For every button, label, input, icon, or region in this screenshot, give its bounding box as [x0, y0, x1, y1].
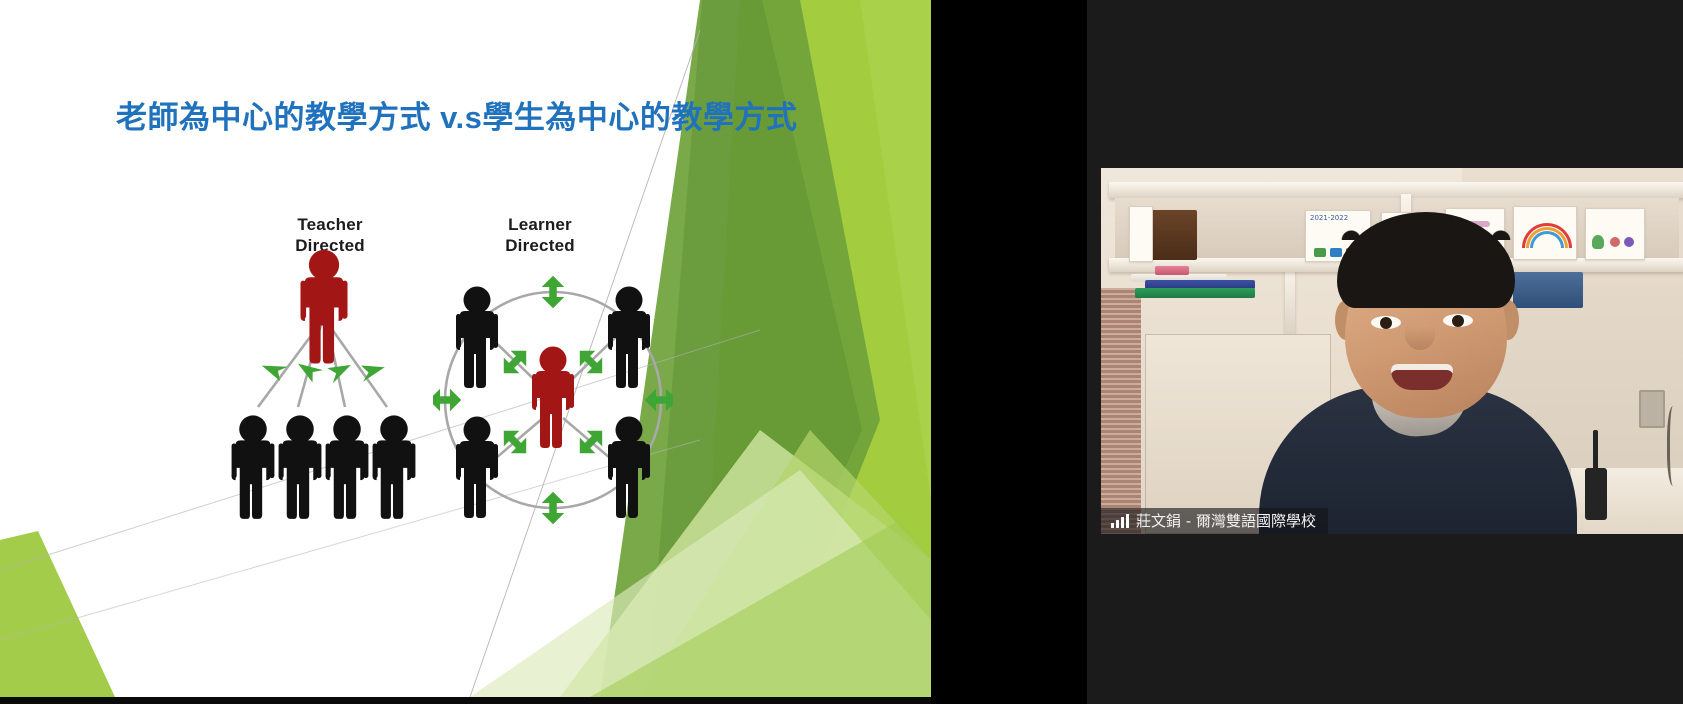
learner-directed-label-line1: Learner	[460, 215, 620, 236]
peer-figure-bottom-left	[456, 417, 498, 519]
drawing-d	[1585, 208, 1645, 260]
person-mouth	[1391, 364, 1453, 390]
student-figure-4	[373, 415, 416, 519]
learner-directed-graphic	[433, 250, 673, 560]
ring-arrow-right	[645, 389, 673, 412]
slide-bottom-letterbox	[0, 697, 931, 704]
person-hair-spikes	[1337, 206, 1515, 240]
walkie-antenna	[1593, 430, 1598, 472]
power-cable	[1667, 406, 1682, 486]
shelf-white-card	[1129, 206, 1153, 262]
learner-center-figure	[532, 347, 574, 449]
teacher-arrow-1	[259, 359, 288, 382]
letterbox-gap	[931, 0, 1087, 704]
peer-figure-bottom-right	[608, 417, 650, 519]
teaching-styles-diagram: Teacher Directed Learner Directed	[215, 205, 685, 515]
person-eye-right	[1443, 314, 1473, 327]
person-nose	[1405, 316, 1435, 350]
webcam-scene: 2021-2022	[1101, 168, 1683, 534]
student-figure-3	[326, 415, 369, 519]
shelf-folder-green	[1135, 288, 1255, 298]
teacher-directed-graphic	[215, 250, 445, 560]
screen-root: 老師為中心的教學方式 v.s學生為中心的教學方式 Teacher Directe…	[0, 0, 1683, 704]
signal-bars-icon	[1111, 514, 1129, 528]
shelf-folder-pink	[1155, 266, 1189, 275]
student-figure-2	[279, 415, 322, 519]
power-outlet	[1639, 390, 1665, 428]
peer-figure-top-right	[608, 287, 650, 389]
video-panel: 2021-2022	[1087, 0, 1683, 704]
shared-slide[interactable]: 老師為中心的教學方式 v.s學生為中心的教學方式 Teacher Directe…	[0, 0, 931, 697]
spoke-arrow-se	[572, 423, 610, 461]
student-figure-1	[232, 415, 275, 519]
participant-person	[1253, 196, 1583, 534]
teacher-figure	[300, 250, 347, 364]
participant-name-text: 莊文鋗 - 爾灣雙語國際學校	[1136, 513, 1316, 530]
ring-arrow-left	[433, 389, 461, 412]
spoke-arrow-sw	[496, 423, 534, 461]
teacher-directed-label-line1: Teacher	[250, 215, 410, 236]
participant-name-label: 莊文鋗 - 爾灣雙語國際學校	[1101, 508, 1328, 535]
slide-title: 老師為中心的教學方式 v.s學生為中心的教學方式	[116, 99, 816, 136]
person-eye-left	[1371, 316, 1401, 329]
peer-figure-top-left	[456, 287, 498, 389]
walkie-talkie	[1585, 468, 1607, 520]
participant-video-tile[interactable]: 2021-2022	[1101, 168, 1683, 534]
